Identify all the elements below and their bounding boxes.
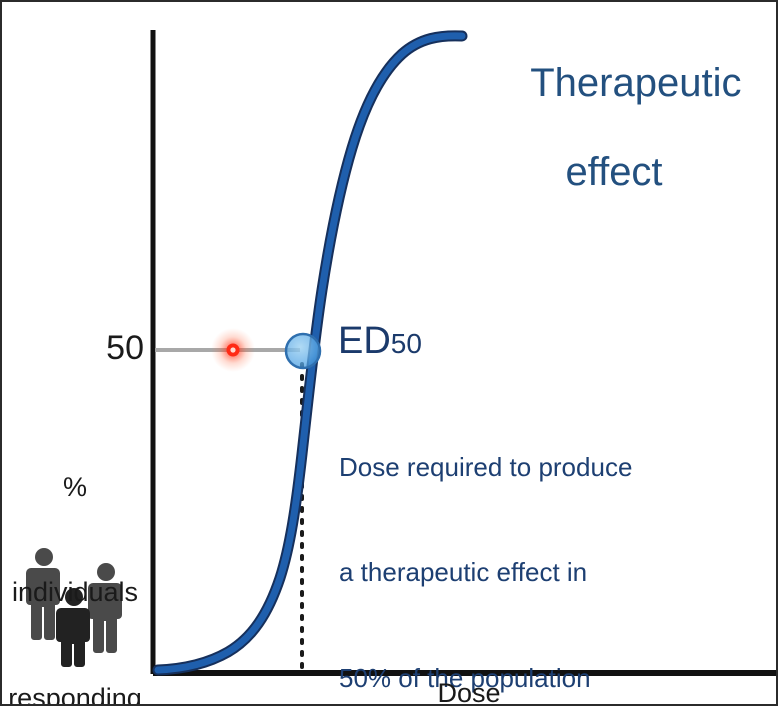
ed50-description-line2: a therapeutic effect in bbox=[339, 555, 632, 590]
y-tick-label-50: 50 bbox=[62, 329, 144, 367]
ed50-marker[interactable] bbox=[286, 334, 320, 368]
y-axis-label-line1: % bbox=[2, 470, 148, 505]
y-axis-label-line2: individuals bbox=[2, 575, 148, 610]
curve-title-line2: effect bbox=[464, 150, 764, 195]
ed50-heading-main: ED bbox=[338, 320, 391, 362]
ed50-description-line1: Dose required to produce bbox=[339, 450, 632, 485]
laser-pointer-core bbox=[230, 347, 235, 352]
x-axis-label: Dose bbox=[374, 678, 564, 706]
y-axis-label: % individuals responding bbox=[2, 400, 148, 706]
y-axis-label-line3: responding bbox=[2, 681, 148, 706]
ed50-description: Dose required to produce a therapeutic e… bbox=[339, 380, 632, 706]
ed50-heading: ED50 bbox=[338, 320, 422, 363]
curve-title: Therapeutic effect bbox=[464, 16, 764, 285]
curve-title-line1: Therapeutic bbox=[530, 61, 741, 105]
dose-response-figure: Therapeutic effect ED50 Dose required to… bbox=[0, 0, 778, 706]
ed50-heading-subscript: 50 bbox=[391, 328, 422, 359]
